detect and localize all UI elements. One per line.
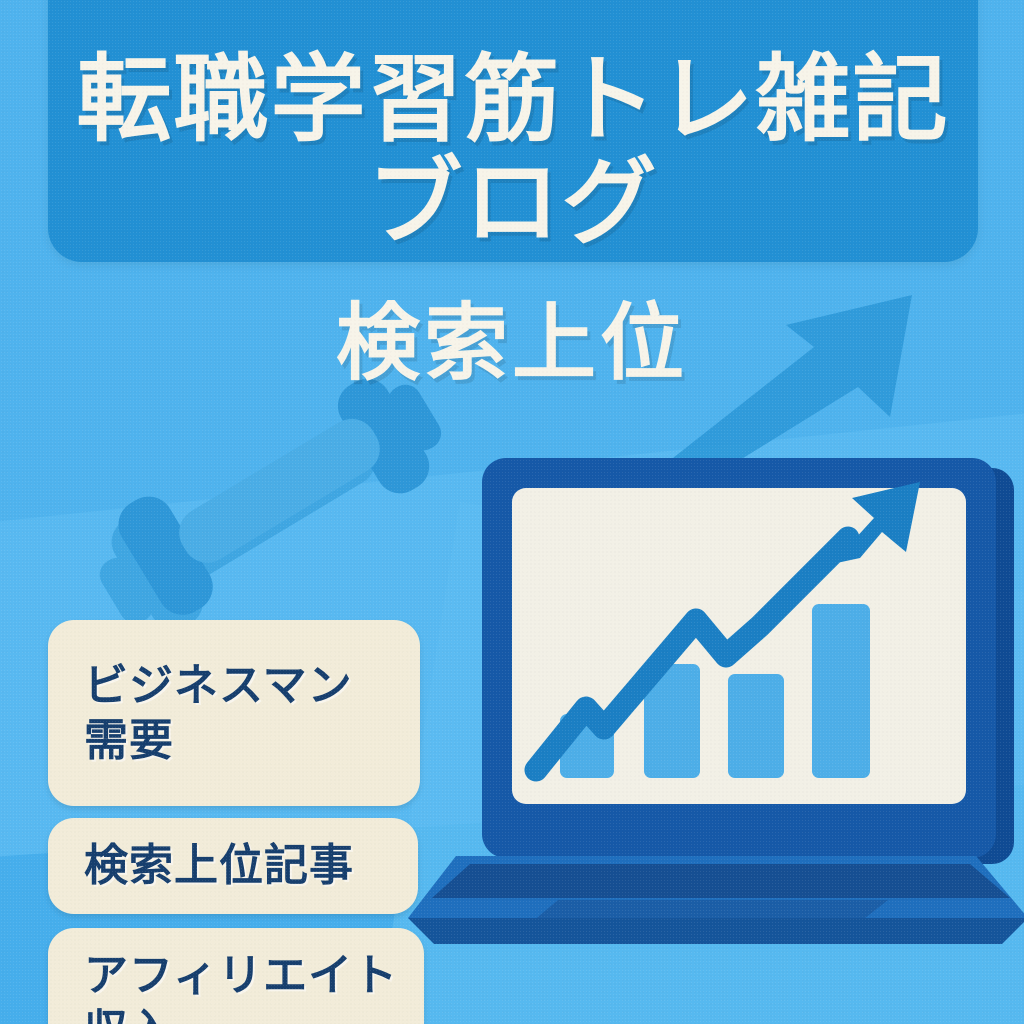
feature-pill-2-line-1: 検索上位記事	[84, 838, 418, 893]
feature-pill-3[interactable]: アフィリエイト 収入	[48, 928, 424, 1024]
feature-pill-3-line-2: 収入	[84, 1003, 424, 1024]
poster-canvas: 転職学習筋トレ雑記 ブログ 検索上位 ビジネスマン 需要 検索上位記事 アフィリ…	[0, 0, 1024, 1024]
feature-pill-1[interactable]: ビジネスマン 需要	[48, 620, 420, 806]
title-line-2: ブログ	[367, 155, 658, 252]
feature-pill-3-line-1: アフィリエイト	[84, 948, 424, 1003]
laptop-chart-illustration	[408, 452, 1024, 952]
feature-pill-1-line-2: 需要	[84, 713, 420, 768]
title-line-1: 転職学習筋トレ雑記	[76, 52, 949, 149]
title-card: 転職学習筋トレ雑記 ブログ	[48, 0, 978, 262]
feature-pill-1-line-1: ビジネスマン	[84, 658, 420, 713]
subtitle: 検索上位	[0, 276, 1024, 397]
feature-pill-2[interactable]: 検索上位記事	[48, 818, 418, 914]
